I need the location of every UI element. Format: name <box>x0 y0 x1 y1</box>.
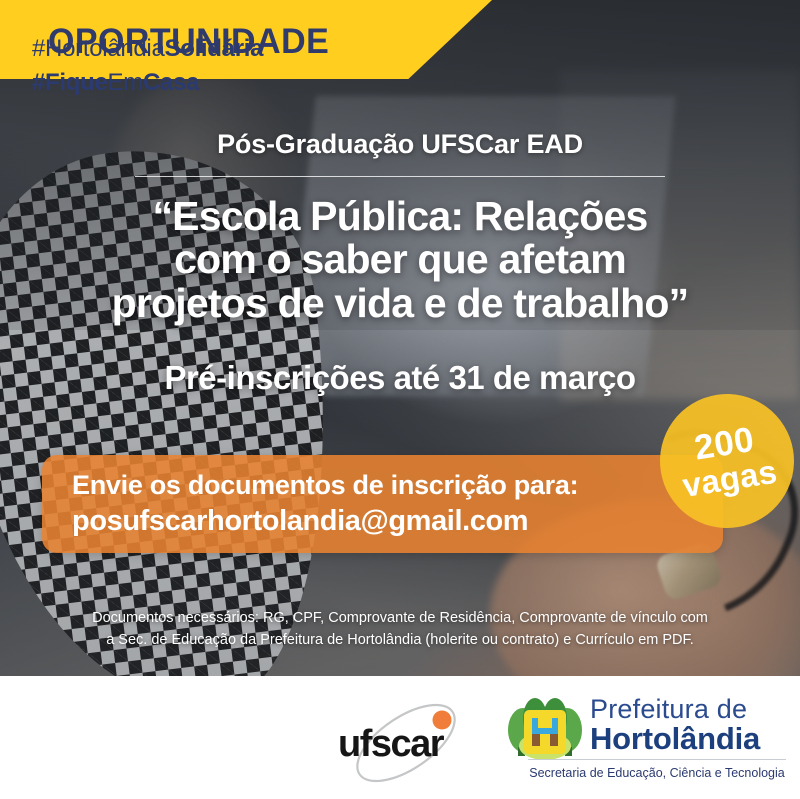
required-documents-line-2: a Sec. de Educação da Prefeitura de Hort… <box>28 629 772 651</box>
course-title-line-2: com o saber que afetam <box>35 238 765 281</box>
prefeitura-wordmark: Prefeitura de Hortolândia <box>590 696 760 756</box>
svg-text:ufscar: ufscar <box>338 723 445 765</box>
hashtag-1-light: #Hortolândia <box>32 35 165 62</box>
prefeitura-hortolandia-logo: Prefeitura de Hortolândia Secretaria de … <box>508 696 788 788</box>
hashtag-2-bold-a: #Fique <box>32 69 108 96</box>
campaign-hashtags: #HortolândiaSolidária #FiqueEmCasa <box>32 32 263 100</box>
deadline-text: Pré-inscrições até 31 de março <box>0 359 800 397</box>
course-title-line-1: “Escola Pública: Relações <box>35 195 765 238</box>
ufscar-logo-icon: ufscar <box>330 700 480 786</box>
ufscar-logo: ufscar <box>330 700 480 786</box>
hashtag-hortolandia-solidaria: #HortolândiaSolidária <box>32 32 263 66</box>
prefeitura-tagline: Secretaria de Educação, Ciência e Tecnol… <box>518 766 796 780</box>
course-title-line-3: projetos de vida e de trabalho” <box>35 282 765 325</box>
cta-instruction: Envie os documentos de inscrição para: <box>72 469 578 503</box>
hashtag-1-bold: Solidária <box>165 35 264 62</box>
prefeitura-line-2: Hortolândia <box>590 723 760 756</box>
application-cta-box: Envie os documentos de inscrição para: p… <box>42 455 723 553</box>
hashtag-2-light: Em <box>108 69 143 96</box>
poster-canvas: OPORTUNIDADE Pós-Graduação UFSCar EAD “E… <box>0 0 800 799</box>
hashtag-2-bold-b: Casa <box>143 69 199 96</box>
main-content: Pós-Graduação UFSCar EAD “Escola Pública… <box>0 79 800 397</box>
required-documents-line-1: Documentos necessários: RG, CPF, Comprov… <box>28 607 772 629</box>
required-documents-note: Documentos necessários: RG, CPF, Comprov… <box>0 607 800 652</box>
prefeitura-line-1: Prefeitura de <box>590 696 760 723</box>
program-kicker: Pós-Graduação UFSCar EAD <box>0 129 800 160</box>
application-cta-content: Envie os documentos de inscrição para: p… <box>72 469 578 539</box>
course-title: “Escola Pública: Relações com o saber qu… <box>35 195 765 325</box>
prefeitura-divider <box>528 759 786 760</box>
vacancies-label: vagas <box>680 454 779 501</box>
cta-email[interactable]: posufscarhortolandia@gmail.com <box>72 503 578 539</box>
hortolandia-shield-emblem-icon <box>508 696 582 764</box>
hashtag-fique-em-casa: #FiqueEmCasa <box>32 66 263 100</box>
title-divider <box>135 176 665 177</box>
